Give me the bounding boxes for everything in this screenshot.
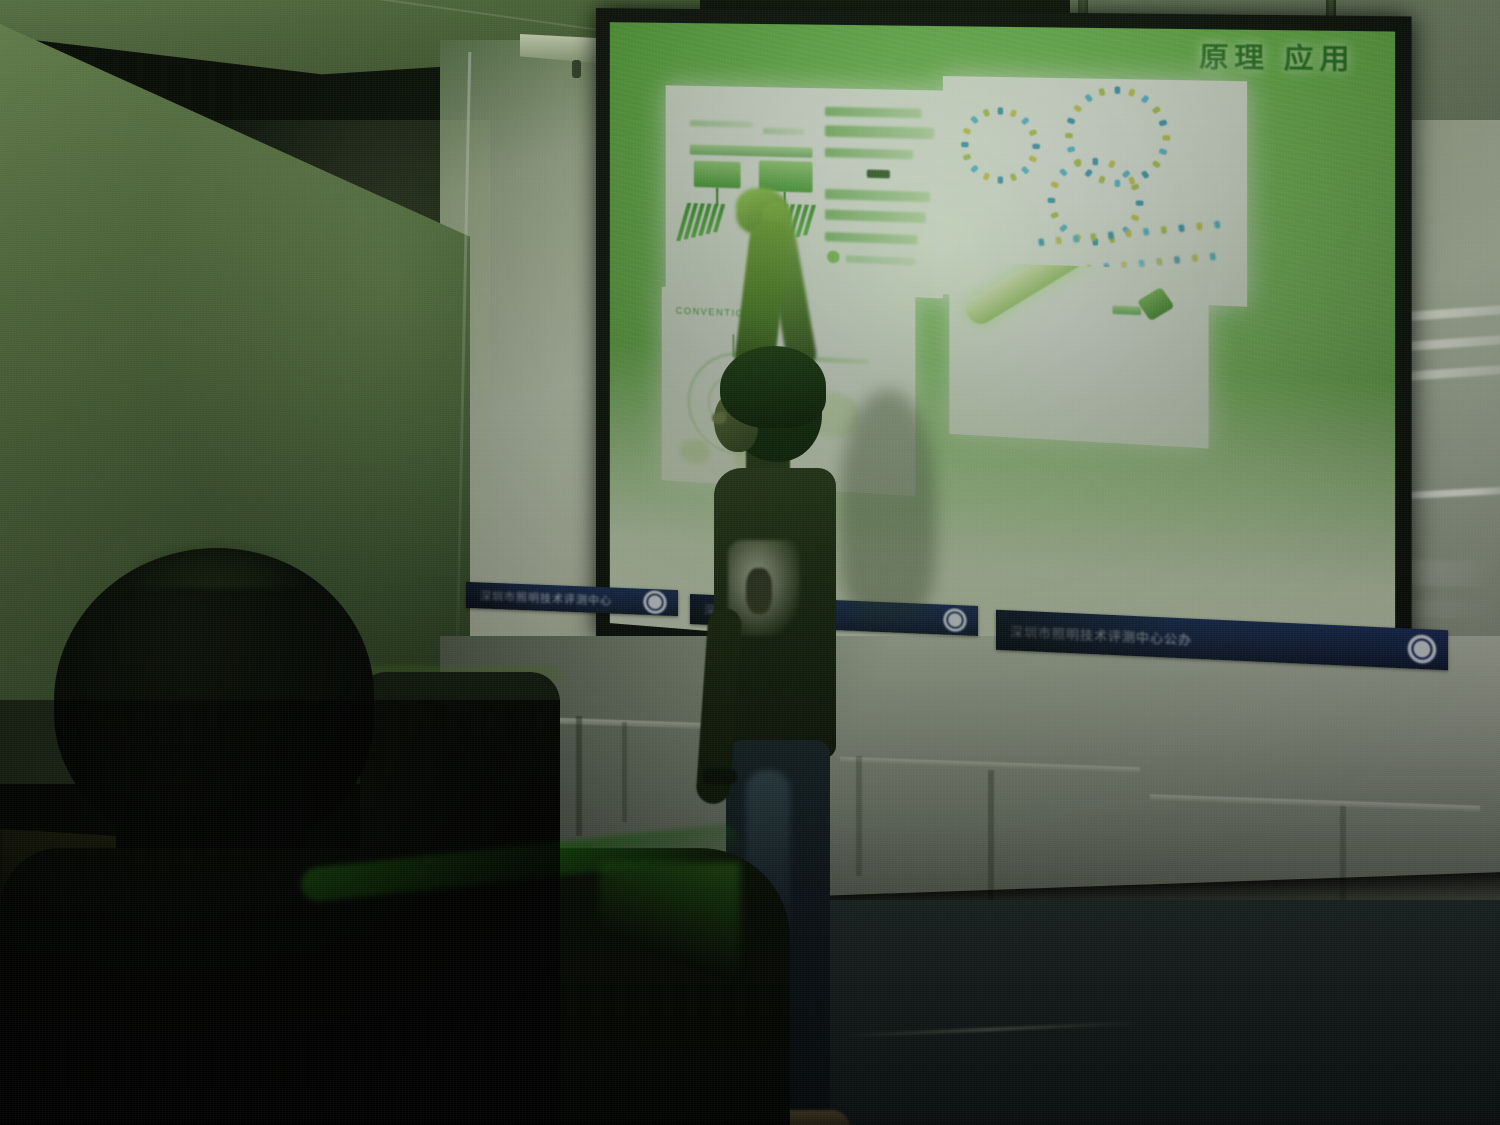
- presenter-wristband: [704, 770, 736, 783]
- presenter-hair: [720, 346, 826, 428]
- presenter-shirt-print: [746, 568, 772, 614]
- window-mullion-2: [622, 722, 627, 822]
- presenter-nose: [712, 412, 726, 424]
- audience-hair-wisps: [120, 540, 310, 588]
- bracket-stem: [572, 60, 581, 78]
- audience-hair: [54, 548, 374, 848]
- presentation-room-photo: 原理 应用: [0, 0, 1500, 1125]
- foreground-chair-side-light: [600, 862, 740, 982]
- presenter-wall-shadow: [840, 390, 936, 620]
- window-mullion-1: [576, 716, 582, 836]
